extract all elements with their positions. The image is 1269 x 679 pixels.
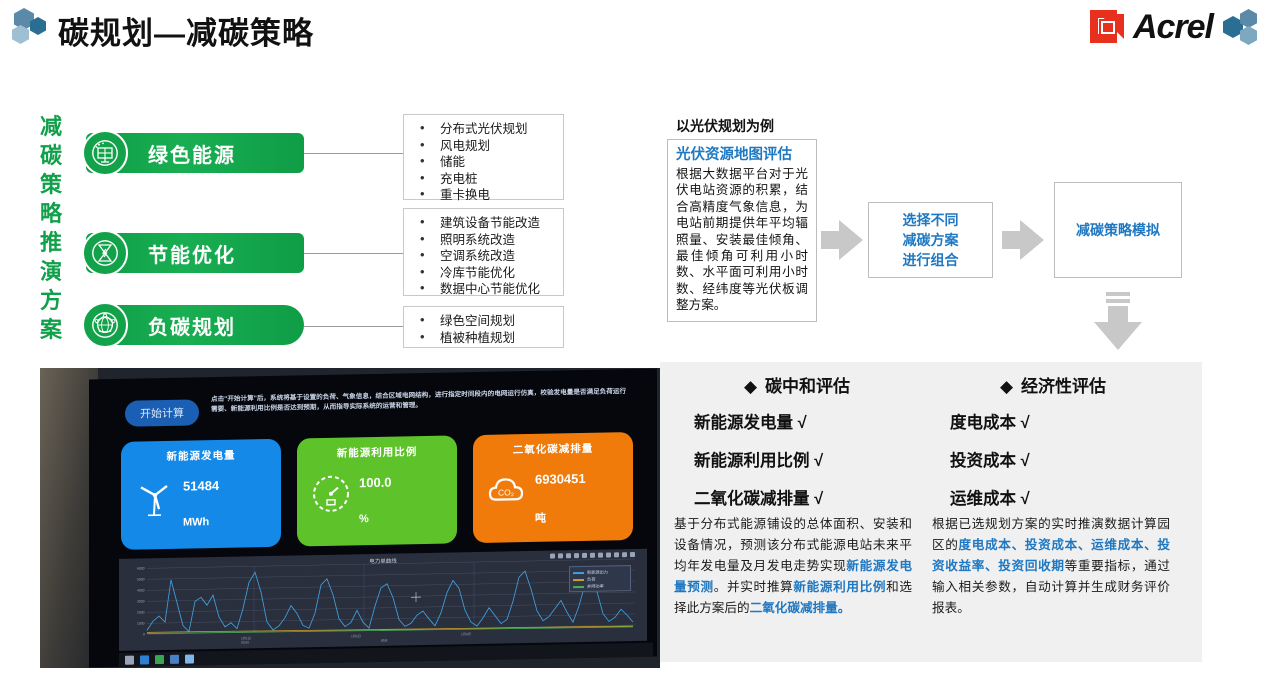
wind-turbine-icon xyxy=(131,473,179,522)
brand-name: Acrel xyxy=(1133,8,1213,47)
keyword-highlight: 新能源利用比例 xyxy=(793,580,886,594)
flow-step2-line2: 减碳方案 xyxy=(903,232,959,248)
flow-step-pv-assessment: 光伏资源地图评估 根据大数据平台对于光伏电站资源的积累，结合高精度气象信息，为电… xyxy=(667,139,817,322)
co2-cloud-icon: CO₂ xyxy=(483,466,531,515)
vlabel-c4: 推 xyxy=(40,230,62,255)
vlabel-c6: 方 xyxy=(40,288,62,313)
page-header: 碳规划—减碳策略 Acrel xyxy=(0,0,1269,60)
flow-step-heading: 光伏资源地图评估 xyxy=(676,146,808,165)
evaluation-item: 二氧化碳减排量 √ xyxy=(694,485,922,509)
legend-entry[interactable]: 并网功率 xyxy=(573,582,627,590)
evaluation-column-carbon: ◆碳中和评估 新能源发电量 √ 新能源利用比例 √ 二氧化碳减排量 √ xyxy=(672,372,922,523)
evaluation-paragraph-economic: 根据已选规划方案的实时推演数据计算园区的度电成本、投资成本、运维成本、投资收益率… xyxy=(932,514,1170,619)
legend-swatch-icon xyxy=(573,571,584,573)
evaluation-heading: ◆碳中和评估 xyxy=(672,372,922,397)
dashboard-photo: 开始计算 点击"开始计算"后，系统将基于设置的负荷、气象信息，结合区域电网结构，… xyxy=(40,368,660,668)
connector-line-3 xyxy=(304,326,403,327)
kpi-unit: 吨 xyxy=(535,510,546,526)
flow-step2-line1: 选择不同 xyxy=(903,212,959,228)
evaluation-column-economic: ◆经济性评估 度电成本 √ 投资成本 √ 运维成本 √ xyxy=(928,372,1178,523)
power-curve-chart: 电力单曲线 xyxy=(119,549,647,651)
legend-swatch-icon xyxy=(573,585,584,587)
vlabel-c2: 策 xyxy=(40,172,62,197)
svg-text:时间: 时间 xyxy=(381,638,387,643)
evaluation-item: 新能源发电量 √ xyxy=(694,409,922,433)
kpi-card-new-energy-generation: 新能源发电量 51484 MWh xyxy=(121,439,281,550)
kpi-title: 新能源发电量 xyxy=(121,447,281,465)
evaluation-panel: ◆碳中和评估 新能源发电量 √ 新能源利用比例 √ 二氧化碳减排量 √ ◆经济性… xyxy=(660,362,1202,662)
vlabel-c1: 碳 xyxy=(40,143,62,168)
svg-text:4000: 4000 xyxy=(137,588,145,592)
kpi-unit: MWh xyxy=(183,516,209,529)
legend-label: 并网功率 xyxy=(587,583,604,589)
bullet-list: 建筑设备节能改造 照明系统改造 空调系统改造 冷库节能优化 数据中心节能优化 xyxy=(414,215,559,298)
start-calculation-button[interactable]: 开始计算 xyxy=(125,399,199,426)
chart-legend: 新能源出力 负荷 并网功率 xyxy=(569,565,631,592)
arrow-right-icon-2 xyxy=(1002,220,1044,260)
list-item: 建筑设备节能改造 xyxy=(414,215,559,232)
arrow-down-icon xyxy=(1094,292,1142,354)
app-icon[interactable] xyxy=(155,655,164,664)
vlabel-c7: 案 xyxy=(40,317,62,342)
evaluation-heading-text: 经济性评估 xyxy=(1021,377,1106,396)
folder-icon[interactable] xyxy=(170,654,179,663)
category-pill-negative-carbon[interactable]: 负碳规划 xyxy=(86,305,304,345)
evaluation-item: 新能源利用比例 √ xyxy=(694,447,922,471)
hourglass-energy-icon xyxy=(82,230,128,276)
bullet-box-energy-optimization: 建筑设备节能改造 照明系统改造 空调系统改造 冷库节能优化 数据中心节能优化 xyxy=(403,208,564,296)
legend-swatch-icon xyxy=(573,578,584,580)
keyword-highlight: 二氧化碳减排量。 xyxy=(750,601,851,615)
kpi-title: 二氧化碳减排量 xyxy=(473,440,633,458)
pill-label: 节能优化 xyxy=(148,239,236,268)
evaluation-heading: ◆经济性评估 xyxy=(928,372,1178,397)
evaluation-paragraph-carbon: 基于分布式能源铺设的总体面积、安装和设备情况，预测该分布式能源电站未来平均年发电… xyxy=(674,514,912,619)
solar-panel-icon xyxy=(82,130,128,176)
paragraph-text: 。并实时推算 xyxy=(714,580,794,594)
flow-step-simulation: 减碳策略模拟 xyxy=(1054,182,1182,278)
dashboard-note: 点击"开始计算"后，系统将基于设置的负荷、气象信息，结合区域电网结构，进行指定时… xyxy=(211,387,631,415)
evaluation-item: 度电成本 √ xyxy=(950,409,1178,433)
svg-text:0: 0 xyxy=(143,632,145,636)
list-item: 充电桩 xyxy=(414,171,559,188)
diamond-bullet-icon: ◆ xyxy=(744,377,757,396)
acrel-logo: Acrel xyxy=(1087,6,1261,48)
flow-step-text: 减碳策略模拟 xyxy=(1076,220,1160,240)
header-hexagon-decoration-icon xyxy=(8,8,52,48)
svg-text:00:00: 00:00 xyxy=(241,640,249,644)
flow-step2-line3: 进行组合 xyxy=(903,252,959,268)
svg-text:1月9日: 1月9日 xyxy=(461,632,471,636)
list-item: 冷库节能优化 xyxy=(414,265,559,282)
bullet-box-green-energy: 分布式光伏规划 风电规划 储能 充电桩 重卡换电 xyxy=(403,114,564,200)
list-item: 分布式光伏规划 xyxy=(414,121,559,138)
list-item: 数据中心节能优化 xyxy=(414,281,559,298)
list-item: 照明系统改造 xyxy=(414,232,559,249)
list-item: 重卡换电 xyxy=(414,187,559,204)
svg-text:5000: 5000 xyxy=(137,577,145,581)
svg-text:CO₂: CO₂ xyxy=(498,487,514,497)
list-item: 绿色空间规划 xyxy=(414,313,559,330)
vlabel-c0: 减 xyxy=(40,114,62,139)
flow-step-combine-plans: 选择不同 减碳方案 进行组合 xyxy=(868,202,993,278)
pill-label: 绿色能源 xyxy=(148,139,236,168)
page-title: 碳规划—减碳策略 xyxy=(58,8,314,53)
category-pill-green-energy[interactable]: 绿色能源 xyxy=(86,133,304,173)
list-item: 植被种植规划 xyxy=(414,330,559,347)
browser-icon[interactable] xyxy=(140,655,149,664)
legend-label: 新能源出力 xyxy=(587,569,608,575)
svg-text:6000: 6000 xyxy=(137,566,145,570)
gauge-icon xyxy=(307,469,355,518)
vertical-section-label: 减 碳 策 略 推 演 方 案 xyxy=(36,112,66,344)
start-menu-icon[interactable] xyxy=(125,655,134,664)
kpi-title: 新能源利用比例 xyxy=(297,443,457,461)
evaluation-item: 投资成本 √ xyxy=(950,447,1178,471)
globe-network-icon xyxy=(82,302,128,348)
kpi-unit: % xyxy=(359,513,369,525)
active-app-icon[interactable] xyxy=(185,654,194,663)
svg-text:3000: 3000 xyxy=(137,599,145,603)
category-pill-energy-optimization[interactable]: 节能优化 xyxy=(86,233,304,273)
slide-root: 碳规划—减碳策略 Acrel 减 碳 策 略 推 演 方 案 xyxy=(0,0,1269,679)
connector-line-2 xyxy=(304,253,403,254)
flow-title: 以光伏规划为例 xyxy=(676,116,774,136)
list-item: 风电规划 xyxy=(414,138,559,155)
svg-text:2000: 2000 xyxy=(137,610,145,614)
vlabel-c5: 演 xyxy=(40,259,62,284)
evaluation-heading-text: 碳中和评估 xyxy=(765,377,850,396)
connector-line-1 xyxy=(304,153,403,154)
list-item: 空调系统改造 xyxy=(414,248,559,265)
acrel-mark-icon xyxy=(1087,8,1127,46)
kpi-card-new-energy-ratio: 新能源利用比例 100.0 % xyxy=(297,435,457,546)
monitor-screen: 开始计算 点击"开始计算"后，系统将基于设置的负荷、气象信息，结合区域电网结构，… xyxy=(89,369,657,668)
brand-hexagon-icon xyxy=(1223,9,1261,45)
kpi-value: 100.0 xyxy=(359,475,392,491)
bullet-list: 分布式光伏规划 风电规划 储能 充电桩 重卡换电 xyxy=(414,121,559,204)
legend-label: 负荷 xyxy=(587,576,595,582)
diamond-bullet-icon: ◆ xyxy=(1000,377,1013,396)
kpi-value: 51484 xyxy=(183,478,219,494)
evaluation-item: 运维成本 √ xyxy=(950,485,1178,509)
flow-step-body: 根据大数据平台对于光伏电站资源的积累，结合高精度气象信息，为电站前期提供年平均辐… xyxy=(676,166,808,314)
svg-text:1月5日: 1月5日 xyxy=(351,634,361,638)
kpi-value: 6930451 xyxy=(535,471,586,487)
pill-label: 负碳规划 xyxy=(148,311,236,340)
svg-text:1000: 1000 xyxy=(137,621,145,625)
vlabel-c3: 略 xyxy=(40,201,62,226)
kpi-card-co2-reduction: 二氧化碳减排量 CO₂ 6930451 吨 xyxy=(473,432,633,543)
flow-step-text: 选择不同 减碳方案 进行组合 xyxy=(903,210,959,270)
arrow-right-icon-1 xyxy=(821,220,863,260)
bullet-list: 绿色空间规划 植被种植规划 xyxy=(414,313,559,346)
list-item: 储能 xyxy=(414,154,559,171)
bullet-box-negative-carbon: 绿色空间规划 植被种植规划 xyxy=(403,306,564,348)
